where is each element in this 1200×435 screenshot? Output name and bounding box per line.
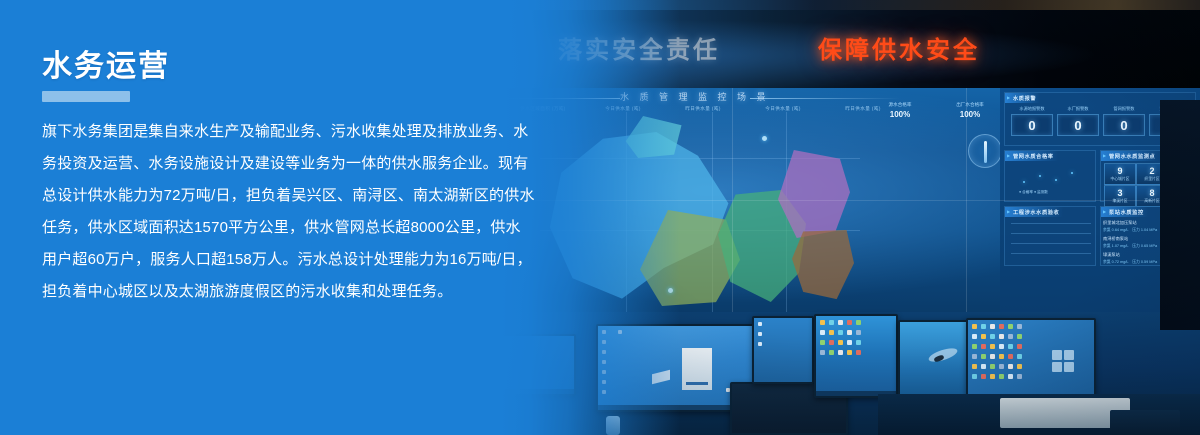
room-wall: [1160, 100, 1200, 330]
alarm-kpi[interactable]: 管网报警数 0: [1103, 106, 1145, 136]
wall-percent-label: 出厂水合格率: [940, 102, 1000, 108]
monitor: [814, 314, 898, 398]
compass-icon: [968, 134, 1002, 168]
wall-percent: 源水合格率 100%: [870, 102, 930, 119]
led-banner: 落实安全责任 保障供水安全: [500, 0, 1200, 100]
quality-log-v1: 余氯 1.07 mg/L: [1103, 244, 1128, 248]
alarm-kpi[interactable]: 水源地报警数 0: [1011, 106, 1053, 136]
site-cell-value: 3: [1117, 188, 1122, 198]
quality-log-v2: 压力 0.65 MPa: [1132, 244, 1157, 248]
alarm-kpi-value: 0: [1074, 118, 1081, 133]
rate-legend: ● 合格率 ● 监测数: [1019, 190, 1048, 195]
wall-title-wing-right: [750, 98, 900, 99]
site-cell-value: 9: [1117, 166, 1122, 176]
body-line: 用户超60万户，服务人口超158万人。污水总设计处理能力为16万吨/日，: [42, 244, 542, 276]
title-underline-bar: [42, 91, 130, 102]
alarm-kpi-label: 水源地报警数: [1011, 106, 1053, 112]
site-cell-value: 8: [1149, 188, 1154, 198]
body-copy: 旗下水务集团是集自来水生产及输配业务、污水收集处理及排放业务、水 务投资及运营、…: [42, 116, 542, 308]
body-line: 总设计供水能力为72万吨/日，担负着吴兴区、南浔区、南太湖新区的供水: [42, 180, 542, 212]
site-cell[interactable]: 9中心城片区: [1104, 163, 1136, 185]
body-line: 任务，供水区域面积达1570平方公里，供水管网总长超8000公里，供水: [42, 212, 542, 244]
operator-desks: [500, 312, 1200, 435]
wall-title: 水 质 管 理 监 控 场 景: [620, 90, 770, 103]
wall-seam: [732, 88, 733, 318]
led-slogan-right: 保障供水安全: [818, 30, 980, 65]
regional-map: [540, 112, 860, 312]
site-cell-label: 中心城片区: [1111, 177, 1130, 182]
alarm-kpi-label: 管网报警数: [1103, 106, 1145, 112]
control-room-photo: 落实安全责任 保障供水安全 水 质 管 理 监 控 场 景 供水区域面积 (万吨…: [500, 0, 1200, 435]
rate-panel: 管网水质合格率 ● 合格率 ● 监测数: [1004, 150, 1096, 202]
map-hotspot: [762, 136, 767, 141]
body-line: 担负着中心城区以及太湖旅游度假区的污水收集和处理任务。: [42, 276, 542, 308]
alarm-kpi-value: 0: [1120, 118, 1127, 133]
site-cell-value: 2: [1149, 166, 1154, 176]
windows-logo-icon: [1052, 350, 1076, 374]
alarm-kpi-value: 0: [1028, 118, 1035, 133]
wall-percent-label: 源水合格率: [870, 102, 930, 108]
led-slogan-left: 落实安全责任: [558, 30, 720, 65]
map-hotspot: [668, 288, 673, 293]
acceptance-panel-title: 工程涉水水质验收: [1005, 207, 1063, 217]
video-wall: 水 质 管 理 监 控 场 景 供水区域面积 (万吨) 今日供水量 (吨) 昨日…: [500, 88, 1200, 318]
acceptance-panel: 工程涉水水质验收: [1004, 206, 1096, 266]
map-region-nantaihu: [792, 230, 854, 302]
site-cell[interactable]: 3埭溪片区: [1104, 185, 1136, 207]
quality-log-v1: 余氯 0.64 mg/L: [1103, 228, 1128, 232]
wall-seam: [966, 88, 967, 318]
body-line: 旗下水务集团是集自来水生产及输配业务、污水收集处理及排放业务、水: [42, 116, 542, 148]
alarm-kpi[interactable]: 水厂报警数 0: [1057, 106, 1099, 136]
sites-panel-title: 管网水水质监测点: [1101, 151, 1159, 161]
alarm-kpi-label: 水厂报警数: [1057, 106, 1099, 112]
quality-log-v2: 压力 1.04 MPa: [1132, 228, 1157, 232]
wall-percent-value: 100%: [870, 110, 930, 119]
wall-seam: [500, 200, 1200, 201]
water-bottle: [606, 416, 620, 435]
banner-stage: 落实安全责任 保障供水安全 水 质 管 理 监 控 场 景 供水区域面积 (万吨…: [0, 0, 1200, 435]
led-banner-frame: [500, 0, 1200, 10]
wall-percent: 出厂水合格率 100%: [940, 102, 1000, 119]
laptop: [1110, 410, 1180, 435]
body-line: 务投资及运营、水务设施设计及建设等业务为一体的供水服务企业。现有: [42, 148, 542, 180]
rate-panel-title: 管网水质合格率: [1005, 151, 1058, 161]
wall-percent-value: 100%: [940, 110, 1000, 119]
quality-panel-title: 泵站水质监控: [1101, 207, 1148, 217]
alarm-panel-title: 水质报警: [1005, 93, 1040, 103]
quality-log-v1: 余氯 0.72 mg/L: [1103, 260, 1128, 264]
site-cell-label: 织里片区: [1144, 177, 1159, 182]
page-title: 水务运营: [42, 52, 170, 82]
quality-log-v2: 压力 0.59 MPa: [1132, 260, 1157, 264]
text-column: 水务运营 旗下水务集团是集自来水生产及输配业务、污水收集处理及排放业务、水 务投…: [0, 0, 560, 435]
monitor: [752, 316, 814, 384]
